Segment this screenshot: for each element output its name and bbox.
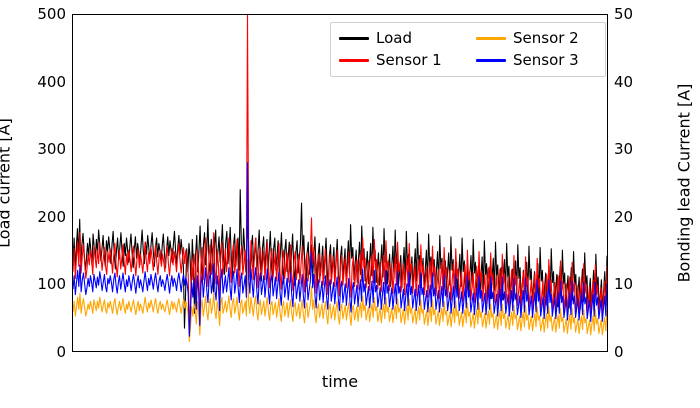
y-axis-left-title: Load current [A] [0, 118, 14, 248]
x-tick [380, 351, 382, 352]
y-tick-label-right: 0 [614, 343, 624, 361]
y-tick-label-left: 100 [37, 275, 66, 293]
y-tick-right [607, 285, 608, 287]
y-tick-label-left: 200 [37, 208, 66, 226]
y-tick-label-right: 50 [614, 5, 633, 23]
legend-label: Load [376, 29, 412, 47]
y-tick-label-left: 300 [37, 140, 66, 158]
y-tick-left [72, 82, 73, 84]
legend-item: Load [339, 29, 460, 47]
legend-label: Sensor 1 [376, 51, 442, 69]
y-tick-label-right: 40 [614, 73, 633, 91]
y-axis-right-title: Bonding lead Current [A] [675, 84, 694, 283]
chart-legend: Load Sensor 2 Sensor 1 Sensor 3 [330, 22, 606, 77]
y-tick-left [72, 217, 73, 219]
legend-swatch-load [339, 37, 369, 40]
x-tick [292, 351, 294, 352]
y-tick-label-right: 20 [614, 208, 633, 226]
y-tick-label-left: 400 [37, 73, 66, 91]
legend-item: Sensor 2 [476, 29, 597, 47]
legend-swatch-sensor3 [476, 59, 506, 62]
y-tick-label-left: 500 [37, 5, 66, 23]
legend-swatch-sensor1 [339, 59, 369, 62]
y-tick-left [72, 14, 73, 16]
y-tick-label-right: 10 [614, 275, 633, 293]
y-tick-right [607, 149, 608, 151]
x-tick [469, 351, 471, 352]
y-tick-label-right: 30 [614, 140, 633, 158]
y-tick-left [72, 149, 73, 151]
legend-item: Sensor 1 [339, 51, 460, 69]
x-tick [204, 351, 206, 352]
y-tick-right [607, 14, 608, 16]
x-axis-title: time [322, 372, 358, 391]
legend-swatch-sensor2 [476, 37, 506, 40]
legend-label: Sensor 3 [513, 51, 579, 69]
chart-figure: Load current [A] Bonding lead Current [A… [0, 0, 700, 408]
y-tick-label-left: 0 [56, 343, 66, 361]
x-tick [557, 351, 559, 352]
legend-label: Sensor 2 [513, 29, 579, 47]
y-tick-left [72, 285, 73, 287]
y-tick-right [607, 82, 608, 84]
y-tick-right [607, 217, 608, 219]
x-tick [115, 351, 117, 352]
legend-item: Sensor 3 [476, 51, 597, 69]
